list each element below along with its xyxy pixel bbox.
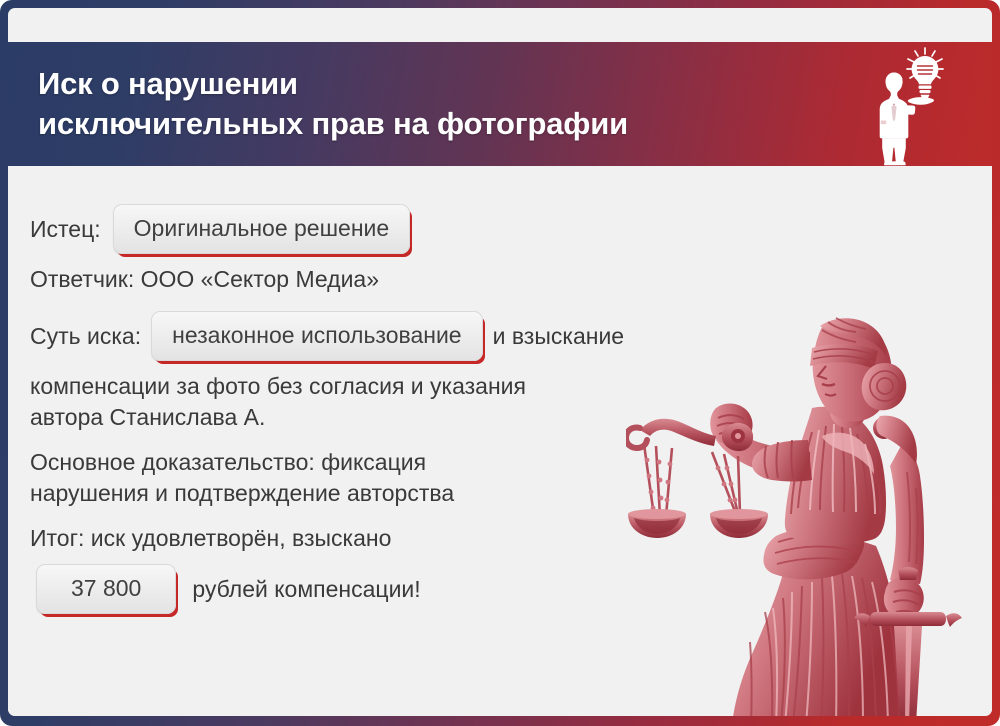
plaintiff-label: Истец: <box>30 214 101 244</box>
amount-value-pill[interactable]: 37 800 <box>36 564 176 614</box>
amount-row: 37 800 рублей компенсации! <box>30 564 670 614</box>
evidence-paragraph: Основное доказательство: фиксация наруше… <box>30 447 670 509</box>
claim-row: Суть иска: незаконное использование и вз… <box>30 311 670 361</box>
result-line: Итог: иск удовлетворён, взыскано <box>30 523 670 554</box>
plaintiff-row: Истец: Оригинальное решение <box>30 204 670 254</box>
card-body: Истец: Оригинальное решение Ответчик: ОО… <box>8 166 992 716</box>
lady-justice-illustration <box>626 312 992 716</box>
amount-tail-text: рублей компенсации! <box>192 574 420 604</box>
card-inner: Иск о нарушении исключительных прав на ф… <box>8 8 992 716</box>
claim-label: Суть иска: <box>30 321 141 351</box>
claim-tail-text: и взыскание <box>493 321 624 351</box>
plaintiff-value-pill[interactable]: Оригинальное решение <box>113 204 411 254</box>
claim-value-pill[interactable]: незаконное использование <box>151 311 482 361</box>
infographic-card: Иск о нарушении исключительных прав на ф… <box>0 0 1000 726</box>
claim-details: Истец: Оригинальное решение Ответчик: ОО… <box>8 166 670 614</box>
card-header: Иск о нарушении исключительных прав на ф… <box>8 42 992 166</box>
claim-paragraph: компенсации за фото без согласия и указа… <box>30 371 670 433</box>
defendant-line: Ответчик: ООО «Сектор Медиа» <box>30 264 670 295</box>
businessman-idea-icon <box>858 42 950 166</box>
page-title: Иск о нарушении исключительных прав на ф… <box>38 64 628 143</box>
